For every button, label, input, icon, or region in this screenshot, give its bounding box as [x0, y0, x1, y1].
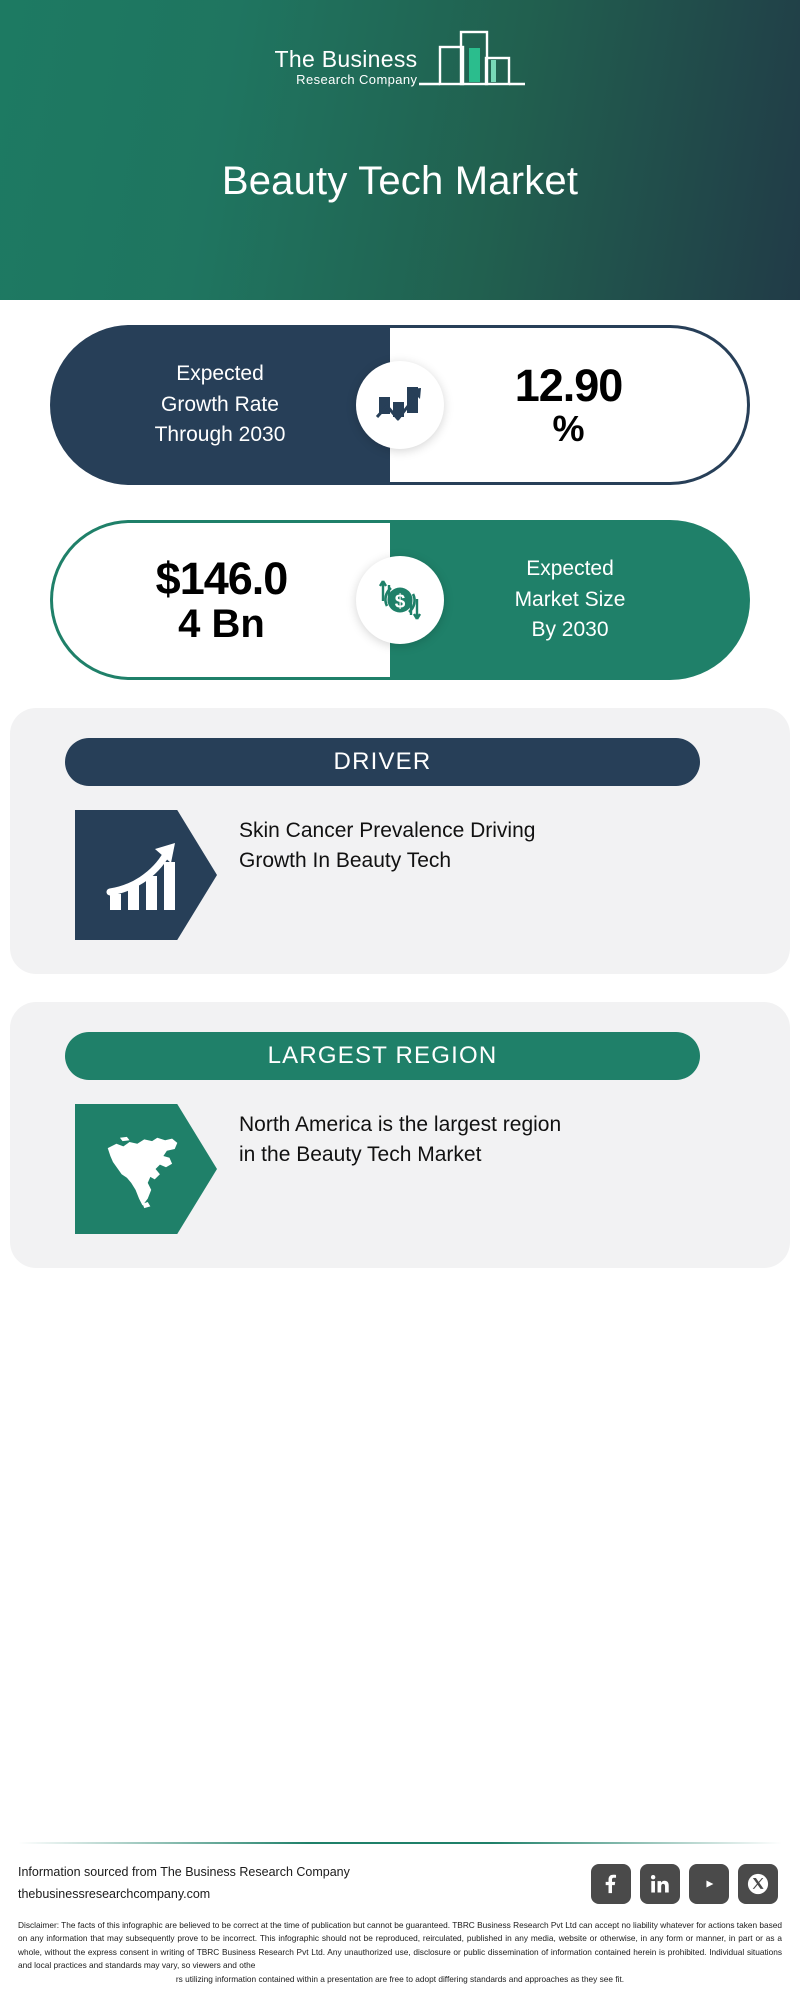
facebook-icon[interactable] [591, 1864, 631, 1904]
header-banner: The Business Research Company Beauty Tec… [0, 0, 800, 300]
svg-text:$: $ [395, 592, 406, 613]
youtube-icon[interactable] [689, 1864, 729, 1904]
stat-label-line-1: Expected [176, 359, 264, 389]
stat-card-value-panel: $146.0 4 Bn [50, 520, 390, 680]
youtube-glyph [698, 1873, 720, 1895]
footer-top-row: Information sourced from The Business Re… [0, 1844, 800, 1915]
stat-value: 12.90 [515, 362, 623, 409]
driver-heading-label: DRIVER [334, 748, 432, 776]
disclaimer-paragraph-2: rs utilizing information contained withi… [18, 1973, 782, 1986]
x-glyph [747, 1873, 769, 1895]
north-america-map-icon [102, 1129, 190, 1209]
largest-region-icon-shape [75, 1104, 217, 1234]
footer-source-line-2[interactable]: thebusinessresearchcompany.com [18, 1884, 350, 1905]
stat-card-label-panel: Expected Growth Rate Through 2030 [50, 325, 390, 485]
driver-text: Skin Cancer Prevalence Driving Growth In… [239, 810, 569, 940]
bar-chart-growth-arrow-icon [374, 381, 426, 429]
disclaimer: Disclaimer: The facts of this infographi… [0, 1915, 800, 2000]
stats-section: Expected Growth Rate Through 2030 12.90 … [0, 300, 800, 680]
page-title: Beauty Tech Market [0, 0, 800, 300]
stat-label-line-2: Market Size [515, 585, 626, 615]
stat-icon-badge: $ [356, 556, 444, 644]
footer: Information sourced from The Business Re… [0, 1842, 800, 2000]
facebook-glyph [600, 1873, 622, 1895]
largest-region-panel-body: North America is the largest region in t… [10, 1080, 790, 1234]
stat-card-label-panel: Expected Market Size By 2030 [390, 520, 750, 680]
social-links [591, 1864, 778, 1904]
x-twitter-icon[interactable] [738, 1864, 778, 1904]
stat-label-line-2: Growth Rate [161, 390, 279, 420]
largest-region-heading-label: LARGEST REGION [268, 1042, 498, 1070]
stat-unit: 4 Bn [178, 603, 265, 645]
stat-label-line-3: Through 2030 [155, 420, 286, 450]
growth-chart-arrow-icon [105, 836, 187, 914]
stat-label-line-3: By 2030 [531, 615, 608, 645]
driver-panel-body: Skin Cancer Prevalence Driving Growth In… [10, 786, 790, 940]
stat-card-growth-rate: Expected Growth Rate Through 2030 12.90 … [50, 325, 750, 485]
largest-region-heading-pill: LARGEST REGION [65, 1032, 700, 1080]
stat-unit: % [552, 410, 584, 448]
stat-value: $146.0 [156, 555, 288, 602]
largest-region-text: North America is the largest region in t… [239, 1104, 569, 1234]
stat-icon-badge [356, 361, 444, 449]
dollar-circular-arrows-icon: $ [373, 573, 427, 627]
stat-card-value-panel: 12.90 % [390, 325, 750, 485]
driver-panel: DRIVER Skin Cancer Prevalence Driving Gr… [10, 708, 790, 974]
driver-icon-shape [75, 810, 217, 940]
stat-label-line-1: Expected [526, 554, 614, 584]
largest-region-panel: LARGEST REGION North America is the larg… [10, 1002, 790, 1268]
linkedin-icon[interactable] [640, 1864, 680, 1904]
linkedin-glyph [649, 1873, 671, 1895]
stat-card-market-size: $146.0 4 Bn Expected Market Size By 2030… [50, 520, 750, 680]
driver-heading-pill: DRIVER [65, 738, 700, 786]
footer-source: Information sourced from The Business Re… [18, 1862, 350, 1905]
disclaimer-paragraph-1: Disclaimer: The facts of this infographi… [18, 1919, 782, 1973]
footer-source-line-1: Information sourced from The Business Re… [18, 1862, 350, 1883]
